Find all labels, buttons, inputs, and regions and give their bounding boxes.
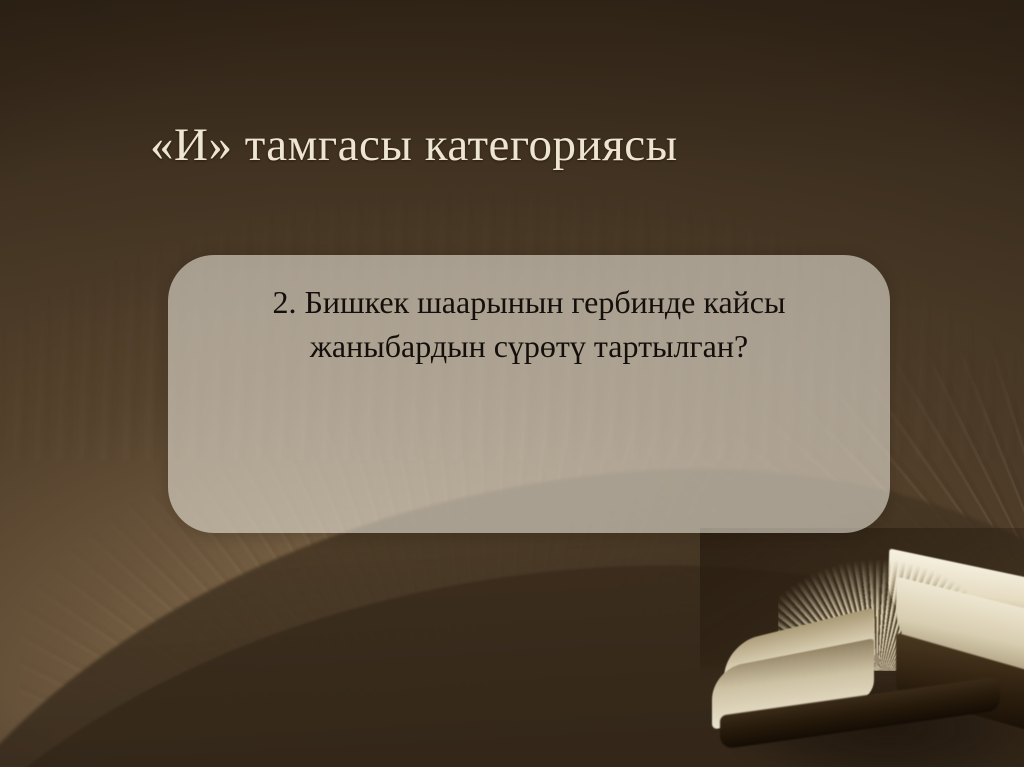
slide-title: «И» тамгасы категориясы <box>150 118 930 173</box>
content-panel: 2. Бишкек шаарынын гербинде кайсы жаныба… <box>168 255 890 533</box>
presentation-slide: «И» тамгасы категориясы 2. Бишкек шаарын… <box>0 0 1024 767</box>
question-text: 2. Бишкек шаарынын гербинде кайсы жаныба… <box>208 281 850 368</box>
open-book-photo <box>700 528 1024 767</box>
